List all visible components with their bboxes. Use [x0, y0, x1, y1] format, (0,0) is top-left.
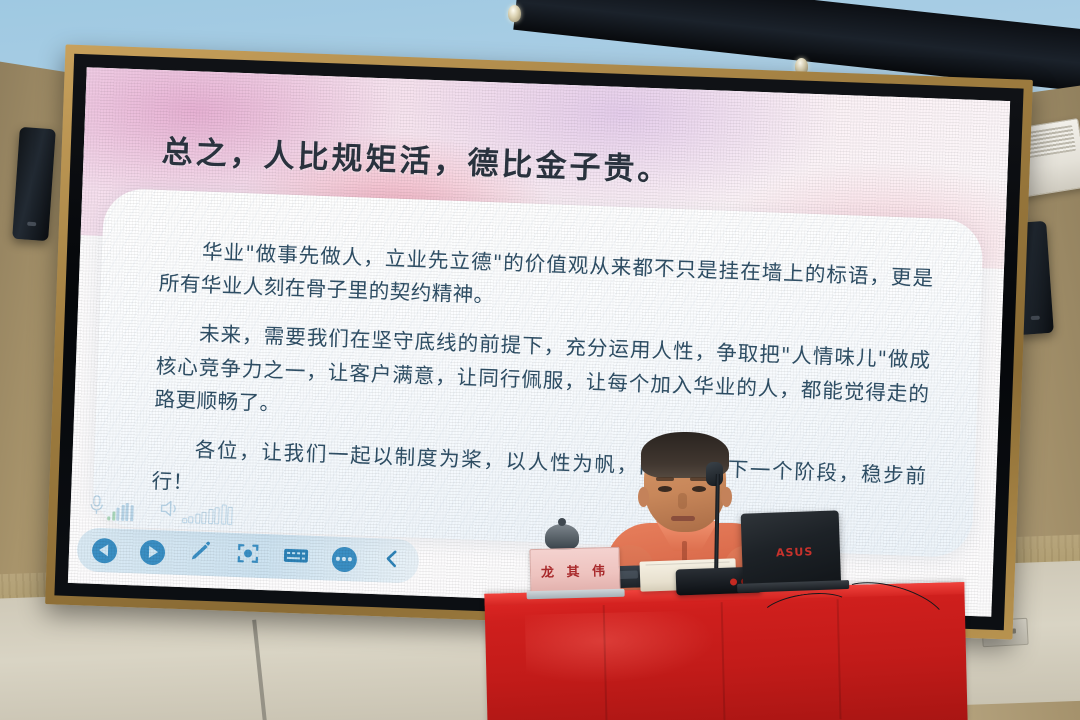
floor-seam	[252, 620, 267, 720]
eyebrow-left	[656, 477, 674, 481]
tablecloth-highlight	[525, 610, 717, 685]
nameplate-text: 龙 其 伟	[541, 560, 610, 581]
tablecloth-fold	[721, 602, 726, 720]
play-icon	[139, 539, 165, 565]
laptop: ASUS	[741, 510, 842, 595]
speaker-level-bars	[182, 505, 233, 525]
chevron-left-icon	[382, 548, 401, 574]
more-options-button[interactable]	[330, 546, 357, 573]
laser-focus-icon	[235, 541, 260, 571]
slide-paragraph-2: 未来，需要我们在坚守底线的前提下，充分运用人性，争取把"人情味儿"做成核心竞争力…	[154, 316, 931, 444]
presentation-room-scene: 总之，人比规矩活，德比金子贵。 华业"做事先做人，立业先立德"的价值观从来都不只…	[0, 0, 1080, 720]
microphone-meter	[88, 495, 133, 522]
eye-left	[658, 486, 672, 492]
presentation-slide: 总之，人比规矩活，德比金子贵。 华业"做事先做人，立业先立德"的价值观从来都不只…	[68, 67, 1010, 617]
speaker-icon	[159, 499, 180, 523]
audio-meters	[88, 495, 233, 525]
slide-paragraph-1: 华业"做事先做人，立业先立德"的价值观从来都不只是挂在墙上的标语，更是所有华业人…	[158, 234, 934, 329]
slide-body-text: 华业"做事先做人，立业先立德"的价值观从来都不只是挂在墙上的标语，更是所有华业人…	[151, 234, 934, 527]
downlight	[508, 5, 521, 22]
nameplate: 龙 其 伟	[529, 547, 620, 593]
speaker-meter	[159, 499, 233, 525]
previous-slide-button[interactable]	[91, 537, 118, 564]
laptop-lid: ASUS	[741, 510, 841, 585]
microphone-head	[706, 462, 723, 486]
screen-surface: 总之，人比规矩活，德比金子贵。 华业"做事先做人，立业先立德"的价值观从来都不只…	[68, 67, 1010, 617]
pen-icon	[187, 539, 212, 569]
laptop-brand-logo: ASUS	[776, 545, 814, 559]
keyboard-icon	[283, 544, 310, 570]
mouth	[671, 516, 695, 521]
microphone-level-bars	[107, 502, 133, 521]
pen-tool-button[interactable]	[187, 540, 214, 567]
ellipsis-icon	[331, 546, 357, 572]
keyboard-button[interactable]	[282, 544, 309, 571]
play-slide-button[interactable]	[139, 538, 166, 565]
teapot	[545, 524, 579, 550]
ear-right	[721, 487, 732, 507]
previous-icon	[91, 537, 117, 563]
nose	[678, 493, 687, 509]
eye-right	[692, 486, 706, 492]
microphone-icon	[88, 495, 105, 521]
screen-bezel: 总之，人比规矩活，德比金子贵。 华业"做事先做人，立业先立德"的价值观从来都不只…	[54, 54, 1023, 630]
collapse-toolbar-button[interactable]	[378, 547, 405, 574]
laser-focus-button[interactable]	[235, 542, 262, 569]
ear-left	[638, 487, 649, 507]
